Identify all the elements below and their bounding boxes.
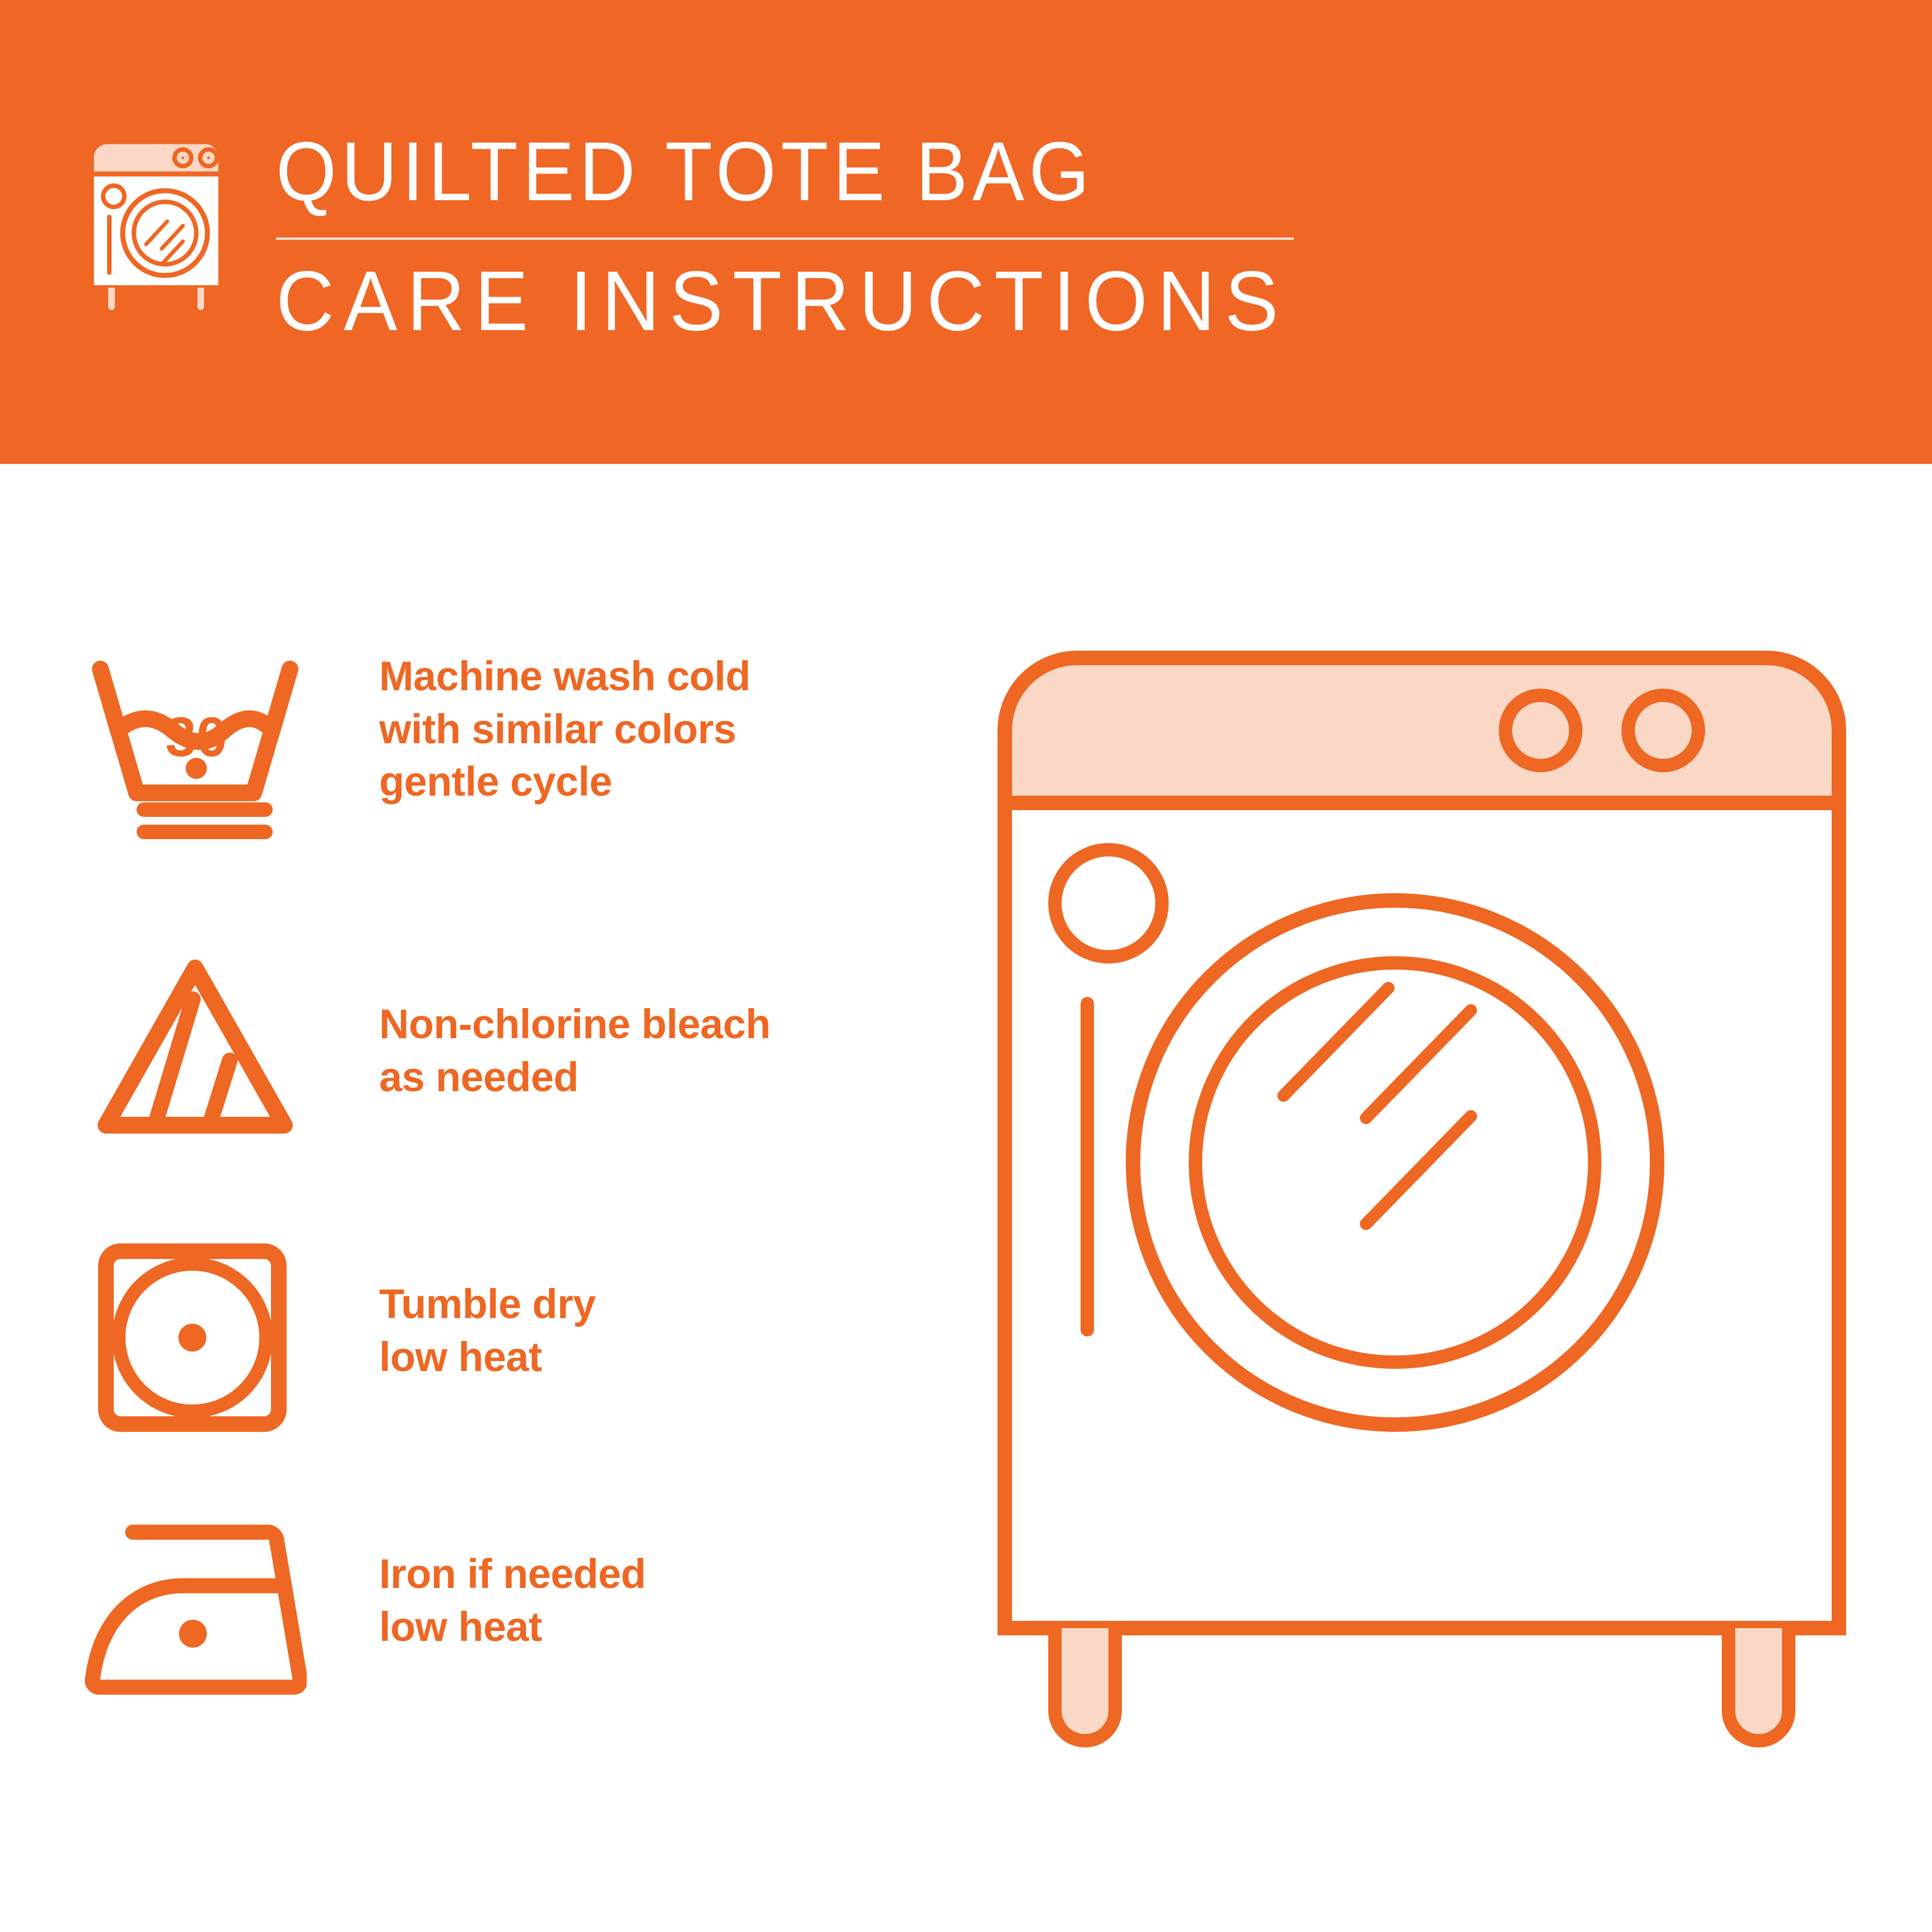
care-text: Tumble dry low heat bbox=[379, 1216, 595, 1383]
care-line: gentle cycle bbox=[379, 756, 750, 808]
header-titles: QUILTED TOTE BAG CARE INSTRUCTIONS bbox=[276, 129, 1342, 343]
title-divider bbox=[276, 238, 1294, 240]
care-line: as needed bbox=[379, 1051, 771, 1104]
care-line: Tumble dry bbox=[379, 1278, 595, 1331]
header-content: QUILTED TOTE BAG CARE INSTRUCTIONS bbox=[84, 129, 1342, 343]
care-line: Non-chlorine bleach bbox=[379, 998, 771, 1051]
washing-machine-illustration bbox=[970, 619, 1873, 1846]
washer-leg bbox=[1055, 1628, 1115, 1741]
tumble-dry-icon bbox=[84, 1216, 307, 1462]
bleach-stripe bbox=[212, 1061, 230, 1117]
iron-dot-icon bbox=[179, 1620, 207, 1648]
care-text: Machine wash cold with similar colors ge… bbox=[379, 647, 750, 808]
care-text: Non-chlorine bleach as needed bbox=[379, 931, 771, 1103]
care-instruction-list: 30 Machine wash cold with similar colors… bbox=[84, 647, 920, 1784]
care-line: Machine wash cold bbox=[379, 650, 750, 703]
page-header: QUILTED TOTE BAG CARE INSTRUCTIONS bbox=[0, 0, 1932, 464]
page-title: QUILTED TOTE BAG bbox=[276, 129, 1267, 213]
care-line: with similar colors bbox=[379, 703, 750, 756]
bleach-triangle-icon bbox=[84, 931, 307, 1175]
care-row: Non-chlorine bleach as needed bbox=[84, 931, 920, 1216]
care-row: 30 Machine wash cold with similar colors… bbox=[84, 647, 920, 931]
care-row: Tumble dry low heat bbox=[84, 1216, 920, 1500]
care-row: Iron if needed low heat bbox=[84, 1500, 920, 1784]
care-instructions-page: QUILTED TOTE BAG CARE INSTRUCTIONS 30 bbox=[0, 0, 1932, 1932]
care-line: low heat bbox=[379, 1331, 595, 1384]
wash-dot-icon bbox=[186, 758, 207, 779]
page-subtitle: CARE INSTRUCTIONS bbox=[276, 259, 1288, 343]
tumble-dot-icon bbox=[178, 1324, 206, 1352]
iron-icon bbox=[84, 1500, 307, 1699]
care-line: low heat bbox=[379, 1601, 646, 1654]
care-text: Iron if needed low heat bbox=[379, 1500, 646, 1653]
washer-leg bbox=[1728, 1628, 1789, 1741]
control-knob bbox=[1628, 695, 1698, 766]
care-line: Iron if needed bbox=[379, 1548, 646, 1601]
wash-tub-icon: 30 bbox=[84, 647, 307, 881]
control-knob bbox=[1505, 695, 1576, 766]
washing-machine-icon bbox=[84, 135, 229, 319]
